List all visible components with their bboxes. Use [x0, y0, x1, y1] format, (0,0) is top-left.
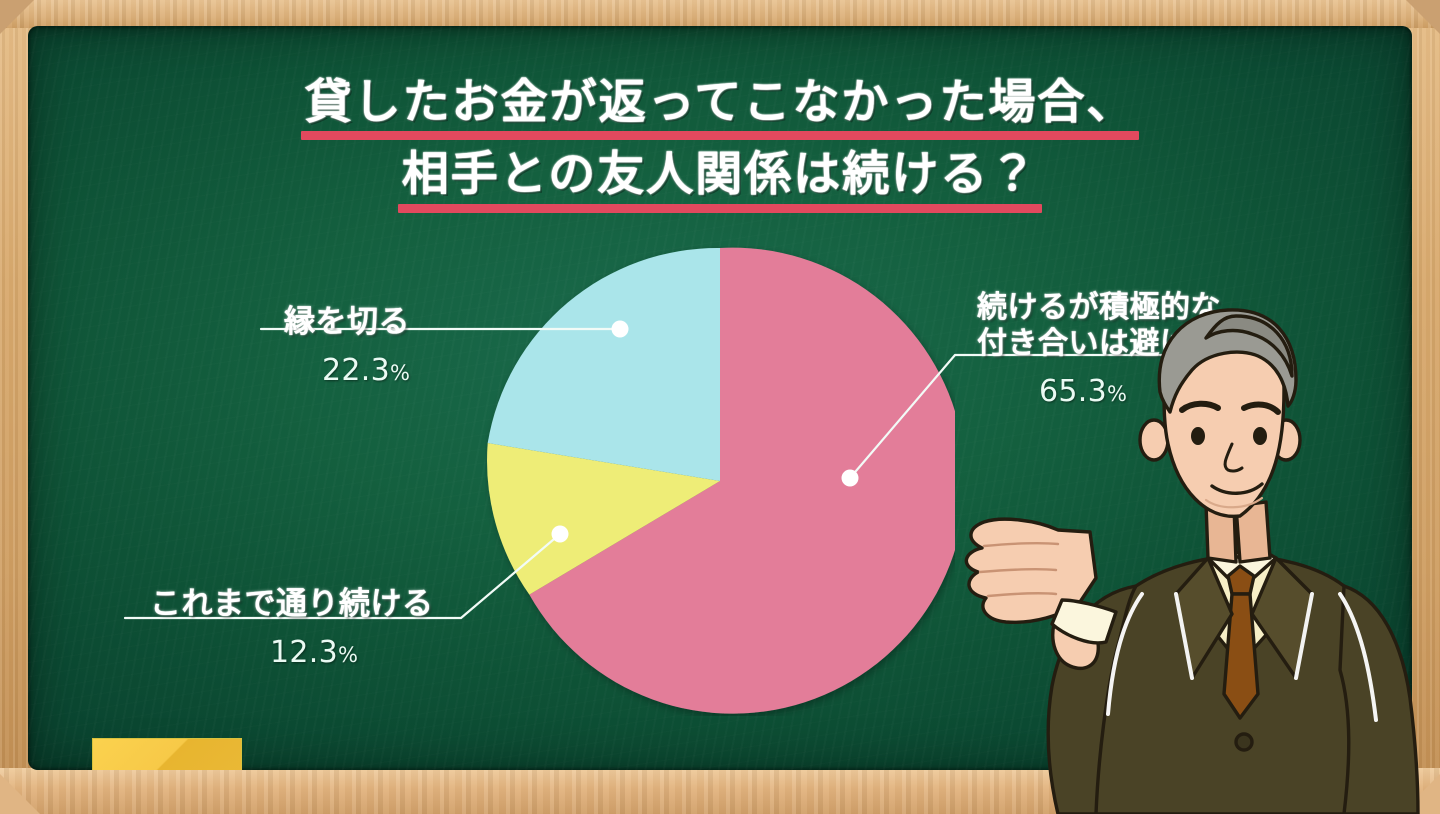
title-underline-2 — [398, 204, 1043, 213]
yellow-eraser — [92, 738, 242, 770]
callout-label-line1: これまで通り続ける — [150, 586, 434, 623]
businessman-svg — [940, 294, 1440, 814]
callout-percent: 22.3% — [322, 353, 410, 388]
callout-percent-value: 12.3 — [270, 635, 338, 670]
callout-continue-as-before: これまで通り続ける 12.3% — [150, 586, 434, 670]
eye-right — [1253, 427, 1267, 445]
pie-chart — [485, 246, 955, 716]
jacket-button — [1236, 734, 1252, 750]
pie-slice-cut-ties — [488, 248, 720, 481]
pie-chart-svg — [485, 246, 955, 716]
frame-corner-top-left — [0, 0, 34, 34]
title-underline-1 — [301, 131, 1140, 140]
title-line-1: 貸したお金が返ってこなかった場合、 — [297, 74, 1144, 140]
title-line-2: 相手との友人関係は続ける？ — [394, 146, 1047, 212]
frame-corner-bottom-left — [0, 774, 40, 814]
callout-percent-value: 22.3 — [322, 353, 390, 388]
title-line-2-text: 相手との友人関係は続ける？ — [402, 147, 1039, 202]
infographic-stage: 貸したお金が返ってこなかった場合、 相手との友人関係は続ける？ — [0, 0, 1440, 814]
frame-top-rail — [0, 0, 1440, 28]
eye-left — [1191, 427, 1205, 445]
callout-cut-ties: 縁を切る 22.3% — [284, 304, 410, 388]
callout-percent-symbol: % — [338, 643, 358, 667]
frame-corner-top-right — [1406, 0, 1440, 34]
callout-percent-symbol: % — [390, 361, 410, 385]
title-line-1-text: 貸したお金が返ってこなかった場合、 — [305, 75, 1136, 130]
callout-percent: 12.3% — [270, 635, 434, 670]
callout-label-line1: 縁を切る — [284, 304, 410, 341]
page-title: 貸したお金が返ってこなかった場合、 相手との友人関係は続ける？ — [28, 74, 1412, 213]
presenting-businessman-illustration — [940, 294, 1440, 814]
